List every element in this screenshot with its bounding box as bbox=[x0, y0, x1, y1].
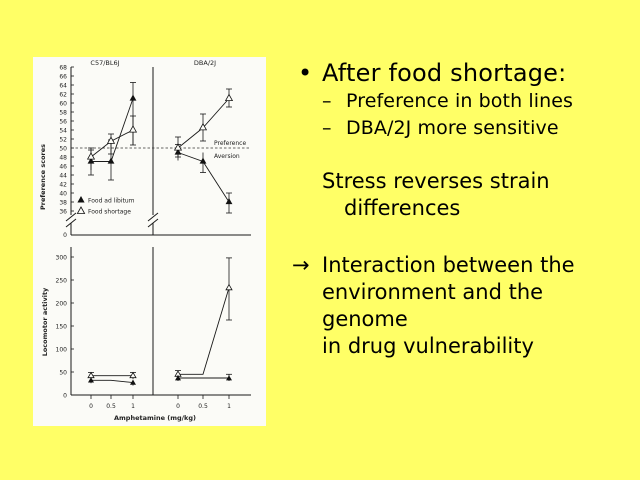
top-chart-title-left: C57/BL6J bbox=[90, 59, 119, 67]
series-dba-locomotor-food-shortage bbox=[175, 258, 232, 378]
xtick-right-2: 1 bbox=[227, 403, 231, 410]
svg-text:58: 58 bbox=[59, 110, 67, 117]
arrow-right-icon: → bbox=[292, 252, 310, 279]
sub-bullet-dba-more-sensitive: – DBA/2J more sensitive bbox=[290, 115, 635, 142]
sub-bullet-dba-more-sensitive-text: DBA/2J more sensitive bbox=[346, 117, 559, 139]
legend-label-1: Food shortage bbox=[88, 209, 131, 216]
svg-text:52: 52 bbox=[59, 137, 67, 144]
svg-text:68: 68 bbox=[59, 65, 67, 72]
series-c57-locomotor-food-shortage bbox=[88, 373, 136, 380]
implication-line-3: in drug vulnerability bbox=[322, 333, 635, 360]
svg-text:0: 0 bbox=[63, 393, 67, 400]
legend-label-0: Food ad libitum bbox=[88, 198, 135, 205]
svg-text:100: 100 bbox=[56, 347, 68, 354]
bottom-chart: Locomotor activity 300 250 200 150 100 5… bbox=[41, 247, 251, 422]
bottom-chart-xticks: 0 0.5 1 0 0.5 1 bbox=[89, 395, 231, 410]
top-chart-yticks: 68 66 64 62 60 58 56 54 52 50 48 46 44 4… bbox=[59, 65, 74, 240]
implication-line-2: environment and the genome bbox=[322, 279, 635, 333]
conclusion-line-2: differences bbox=[322, 195, 635, 222]
sub-bullet-marker-dash-0: – bbox=[322, 88, 332, 115]
svg-text:250: 250 bbox=[56, 278, 68, 285]
svg-text:150: 150 bbox=[56, 324, 68, 331]
svg-text:50: 50 bbox=[59, 370, 67, 377]
figure-panel: Preference scores 68 66 64 62 60 58 56 5… bbox=[33, 57, 266, 426]
series-c57-locomotor-food-ad-libitum bbox=[88, 377, 136, 385]
implication-line-1: Interaction between the bbox=[322, 253, 575, 277]
sub-bullet-marker-dash-1: – bbox=[322, 115, 332, 142]
top-chart-title-right: DBA/2J bbox=[194, 59, 216, 67]
svg-text:46: 46 bbox=[59, 164, 67, 171]
research-figure: Preference scores 68 66 64 62 60 58 56 5… bbox=[33, 57, 266, 426]
conclusion-line-1: Stress reverses strain bbox=[322, 169, 550, 193]
figure-legend: Food ad libitum Food shortage bbox=[77, 196, 134, 216]
svg-text:66: 66 bbox=[59, 74, 67, 81]
xtick-left-0: 0 bbox=[89, 403, 93, 410]
xtick-right-0: 0 bbox=[176, 403, 180, 410]
legend-open-triangle-icon bbox=[77, 207, 84, 214]
annotation-preference: Preference bbox=[214, 140, 246, 147]
xtick-left-1: 0.5 bbox=[106, 403, 116, 410]
svg-text:0: 0 bbox=[63, 232, 67, 239]
svg-text:300: 300 bbox=[56, 255, 68, 262]
svg-text:56: 56 bbox=[59, 119, 67, 126]
svg-text:36: 36 bbox=[59, 209, 67, 216]
legend-filled-triangle-icon bbox=[77, 196, 84, 203]
xtick-right-1: 0.5 bbox=[198, 403, 208, 410]
svg-text:50: 50 bbox=[59, 146, 67, 153]
series-c57-food-ad-libitum bbox=[88, 83, 137, 181]
bottom-chart-xlabel: Amphetamine (mg/kg) bbox=[114, 414, 196, 422]
svg-text:200: 200 bbox=[56, 301, 68, 308]
bullet-after-food-shortage: • After food shortage: bbox=[290, 58, 635, 88]
sub-bullet-preference-both-lines-text: Preference in both lines bbox=[346, 90, 573, 112]
top-chart: Preference scores 68 66 64 62 60 58 56 5… bbox=[39, 59, 251, 239]
svg-text:40: 40 bbox=[59, 191, 67, 198]
svg-text:64: 64 bbox=[59, 83, 67, 90]
bottom-chart-ylabel: Locomotor activity bbox=[41, 287, 49, 356]
svg-text:54: 54 bbox=[59, 128, 67, 135]
bullet-marker-dot: • bbox=[298, 58, 312, 88]
slide-text-column: • After food shortage: – Preference in b… bbox=[290, 58, 635, 458]
sub-bullet-preference-both-lines: – Preference in both lines bbox=[290, 88, 635, 115]
implication-block: → Interaction between the environment an… bbox=[290, 252, 635, 360]
svg-text:38: 38 bbox=[59, 200, 67, 207]
top-chart-ylabel: Preference scores bbox=[39, 144, 47, 210]
svg-text:62: 62 bbox=[59, 92, 67, 99]
svg-text:48: 48 bbox=[59, 155, 67, 162]
annotation-aversion: Aversion bbox=[214, 153, 240, 160]
svg-text:42: 42 bbox=[59, 182, 67, 189]
bullet-after-food-shortage-text: After food shortage: bbox=[322, 59, 566, 87]
series-dba-locomotor-food-ad-libitum bbox=[175, 374, 232, 381]
xtick-left-2: 1 bbox=[131, 403, 135, 410]
svg-text:60: 60 bbox=[59, 101, 67, 108]
svg-text:44: 44 bbox=[59, 173, 67, 180]
conclusion-block: Stress reverses strain differences bbox=[290, 168, 635, 222]
